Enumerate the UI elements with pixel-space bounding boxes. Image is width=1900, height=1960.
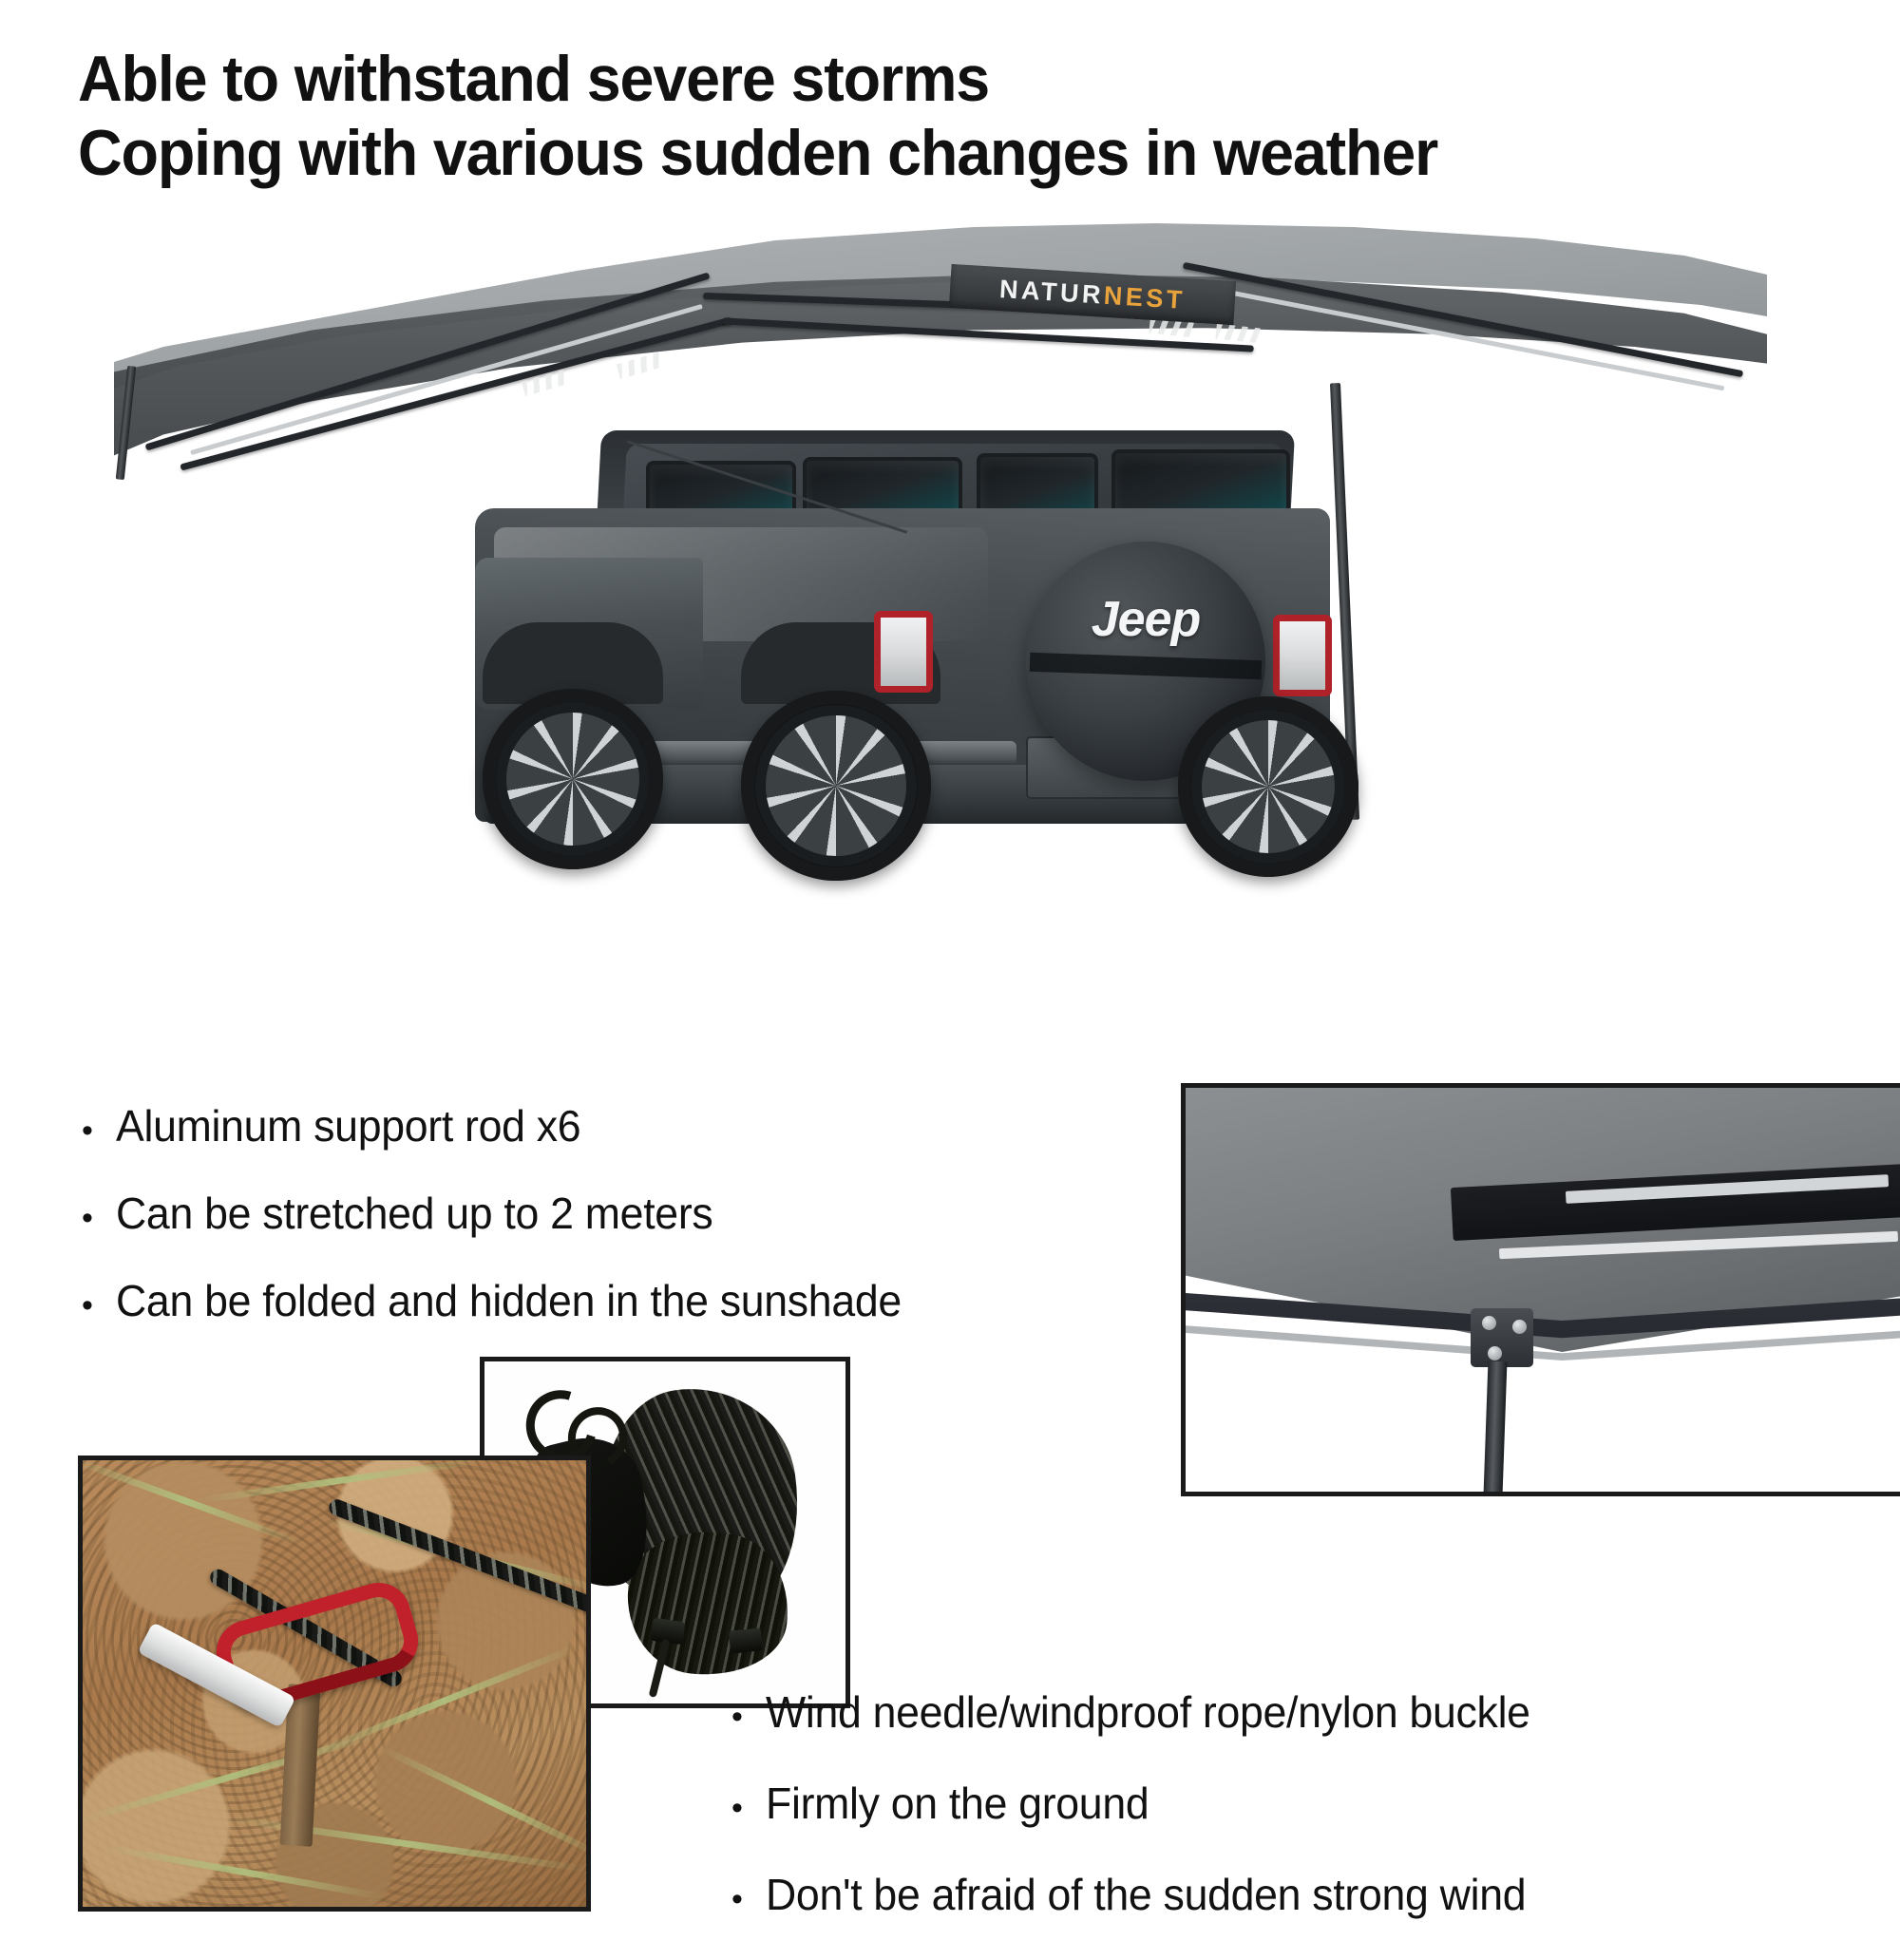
jeep-wordmark: Jeep	[1092, 591, 1201, 648]
bullet-icon: •	[82, 1114, 93, 1147]
logo-text-natur: NATUR	[998, 275, 1105, 310]
feature-list-lower: • Wind needle/windproof rope/nylon buckl…	[731, 1686, 1890, 1960]
feature-text-3: Can be folded and hidden in the sunshade	[116, 1275, 902, 1326]
list-item: • Can be stretched up to 2 meters	[82, 1188, 1136, 1239]
headline-block: Able to withstand severe storms Coping w…	[78, 42, 1845, 190]
awning-underside-detail-panel	[1181, 1083, 1900, 1496]
ground-stake-panel	[78, 1456, 591, 1912]
feature-text-1: Aluminum support rod x6	[116, 1100, 580, 1151]
jeep-rear-right-wheel	[1178, 696, 1358, 877]
hero-product-photo: NATURNEST Jeep	[0, 214, 1900, 1040]
list-item: • Wind needle/windproof rope/nylon buckl…	[731, 1686, 1890, 1738]
bullet-icon: •	[82, 1289, 93, 1322]
bullet-icon: •	[731, 1883, 743, 1915]
bracket-bolt-3	[1488, 1346, 1502, 1361]
feature-text-4: Wind needle/windproof rope/nylon buckle	[766, 1686, 1530, 1738]
list-item: • Don't be afraid of the sudden strong w…	[731, 1869, 1890, 1920]
jeep-wrangler-vehicle: Jeep	[456, 337, 1406, 983]
jeep-front-wheel	[483, 689, 663, 869]
logo-text-nest: NEST	[1103, 280, 1187, 314]
bullet-icon: •	[731, 1792, 743, 1824]
feature-text-5: Firmly on the ground	[766, 1778, 1149, 1829]
feature-text-2: Can be stretched up to 2 meters	[116, 1188, 712, 1239]
bracket-bolt-1	[1482, 1316, 1496, 1330]
list-item: • Firmly on the ground	[731, 1778, 1890, 1829]
list-item: • Can be folded and hidden in the sunsha…	[82, 1275, 1136, 1326]
feature-text-6: Don't be afraid of the sudden strong win…	[766, 1869, 1526, 1920]
naturnest-logo: NATURNEST	[998, 275, 1187, 315]
spare-tire-strap	[1030, 653, 1263, 680]
headline-line-2: Coping with various sudden changes in we…	[78, 116, 1757, 190]
jeep-taillight-right	[1273, 615, 1332, 696]
bracket-bolt-2	[1512, 1320, 1527, 1334]
nylon-buckle-3	[729, 1627, 763, 1653]
bullet-icon: •	[731, 1701, 743, 1733]
jeep-rear-wheel	[741, 691, 931, 881]
headline-line-1: Able to withstand severe storms	[78, 42, 1757, 116]
jeep-taillight-left	[874, 611, 933, 693]
bullet-icon: •	[82, 1202, 93, 1234]
support-rod-bracket	[1471, 1308, 1533, 1367]
list-item: • Aluminum support rod x6	[82, 1100, 1136, 1151]
feature-list-upper: • Aluminum support rod x6 • Can be stret…	[82, 1100, 1136, 1362]
